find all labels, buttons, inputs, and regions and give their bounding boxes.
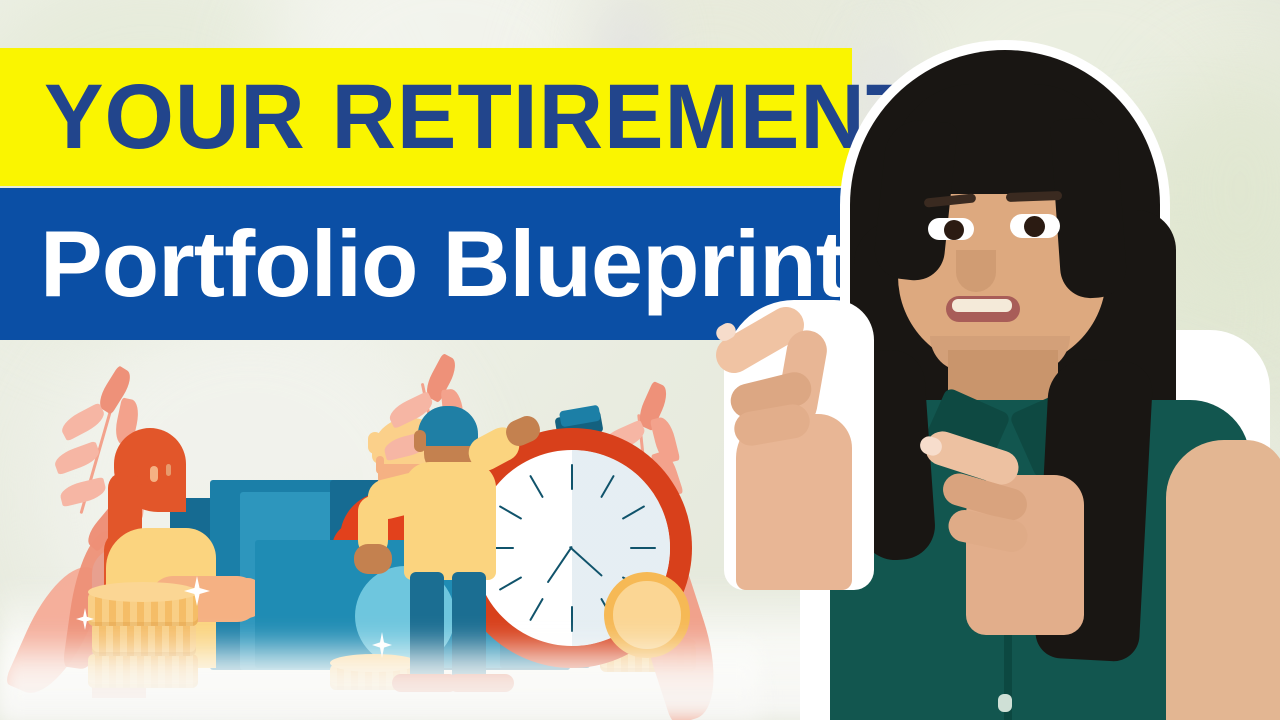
- person-ear: [414, 430, 426, 452]
- person-ear: [150, 466, 158, 482]
- title-line-2: Portfolio Blueprint!: [40, 217, 876, 311]
- illustration-floor-fade: [0, 630, 760, 720]
- stopwatch-tick: [571, 464, 573, 490]
- stopwatch-tick: [571, 606, 573, 632]
- presenter-pupil: [1024, 216, 1045, 237]
- presenter-nose: [956, 250, 996, 292]
- coin-top: [88, 582, 198, 602]
- person-hand: [354, 544, 392, 574]
- presenter-arm-right: [1166, 440, 1280, 720]
- person-hair: [418, 406, 478, 446]
- presenter-hand-pointing-left: [700, 300, 890, 600]
- presenter-pupil: [944, 220, 964, 240]
- presenter-hair-front: [1050, 116, 1128, 300]
- presenter-hand-pointing-chest: [930, 415, 1100, 645]
- presenter-teeth: [952, 299, 1012, 312]
- video-frame: YOUR RETIREMENT Portfolio Blueprint!: [0, 0, 1280, 720]
- person-ear: [376, 456, 384, 474]
- title-line-1: YOUR RETIREMENT: [44, 71, 921, 163]
- person-nose: [166, 464, 171, 476]
- title-banner-top: YOUR RETIREMENT: [0, 48, 852, 186]
- stopwatch-tick: [630, 547, 656, 549]
- retirement-savings-illustration: [0, 380, 760, 720]
- presenter-button: [998, 694, 1012, 712]
- person-hair-tuft: [368, 432, 382, 454]
